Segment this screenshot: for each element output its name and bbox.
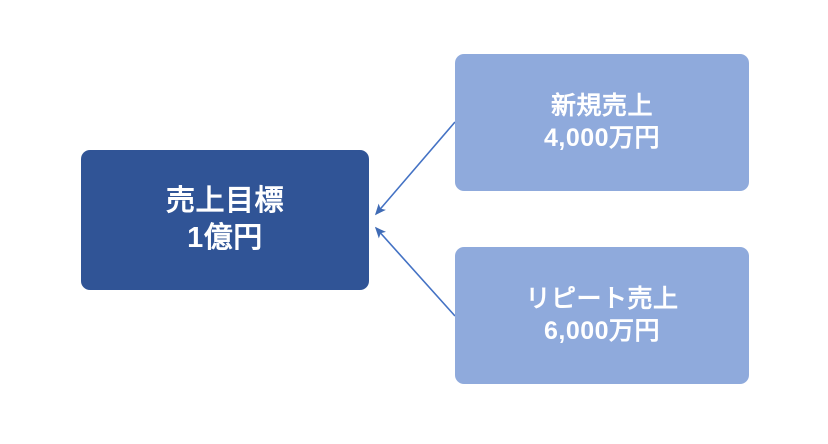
node-new-sales[interactable]: 新規売上 4,000万円 bbox=[455, 54, 749, 191]
node-sales-goal-value: 1億円 bbox=[187, 220, 263, 257]
node-new-sales-title: 新規売上 bbox=[551, 91, 653, 123]
node-repeat-sales-value: 6,000万円 bbox=[544, 316, 660, 348]
diagram-canvas: 売上目標 1億円 新規売上 4,000万円 リピート売上 6,000万円 bbox=[0, 0, 828, 444]
connector-new-to-goal bbox=[376, 122, 455, 214]
node-new-sales-value: 4,000万円 bbox=[544, 123, 660, 155]
node-sales-goal-title: 売上目標 bbox=[166, 183, 284, 220]
node-sales-goal[interactable]: 売上目標 1億円 bbox=[81, 150, 369, 290]
connector-repeat-to-goal bbox=[376, 228, 455, 316]
node-repeat-sales[interactable]: リピート売上 6,000万円 bbox=[455, 247, 749, 384]
node-repeat-sales-title: リピート売上 bbox=[525, 284, 678, 316]
